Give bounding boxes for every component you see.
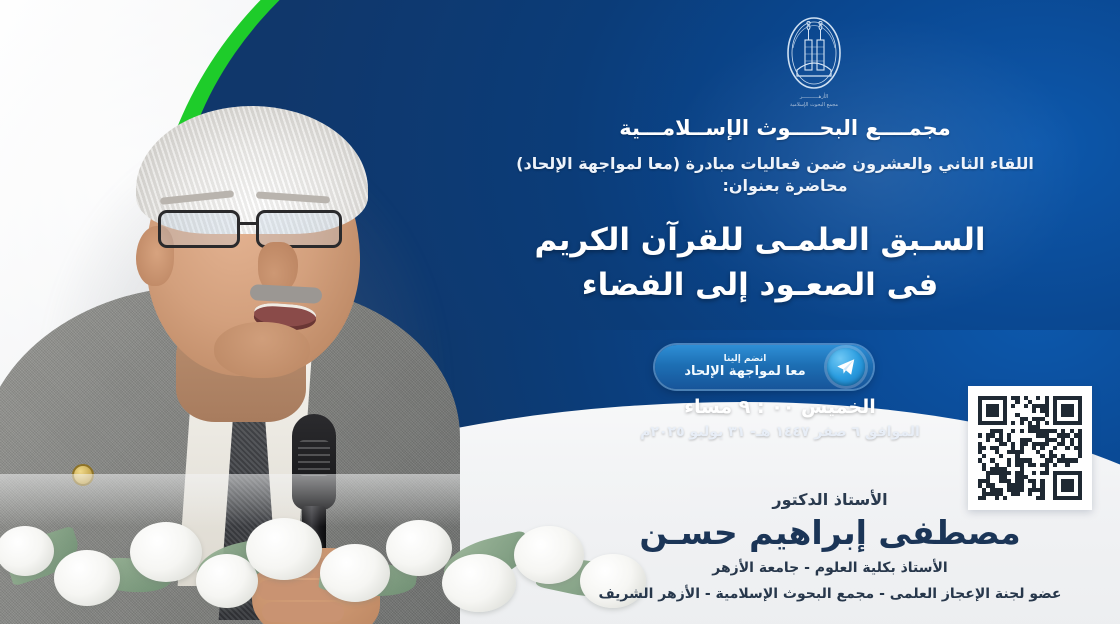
page-title: السـبق العلمـى للقرآن الكريم فى الصعـود … xyxy=(450,218,1070,308)
speaker-name: مصطفى إبراهيم حسـن xyxy=(580,513,1080,552)
event-time: الخميس ٠٠ : ٩ مساء xyxy=(600,396,960,418)
telegram-line-1: انضم إلينا xyxy=(663,354,827,364)
logo-caption-line2: مجمع البحوث الإسلامية xyxy=(775,102,853,110)
lecture-poster: الأزهـــــــــــر مجمع البحوث الإسلامية … xyxy=(0,0,1120,624)
event-date: الموافق ٦ صفر ١٤٤٧ هـ- ٣١ يوليو ٢٠٢٥م xyxy=(580,424,980,440)
logo-caption-line1: الأزهـــــــــــر xyxy=(775,94,853,102)
title-line-1: السـبق العلمـى للقرآن الكريم xyxy=(450,218,1070,263)
telegram-badge-text: انضم إلينا معا لمواجهة الإلحاد xyxy=(663,354,827,379)
al-azhar-emblem-icon: الأزهـــــــــــر مجمع البحوث الإسلامية xyxy=(775,14,853,114)
lecture-label: محاضرة بعنوان: xyxy=(560,176,1010,195)
qr-code-grid xyxy=(978,396,1082,500)
organization-title: مجمــــع البحــــوث الإســلامـــية xyxy=(560,116,1010,140)
title-line-2: فى الصعـود إلى الفضاء xyxy=(450,263,1070,308)
speaker-affiliation-1: الأستاذ بكلية العلوم - جامعة الأزهر xyxy=(600,560,1060,576)
event-subtitle: اللقاء الثاني والعشرون ضمن فعاليات مبادر… xyxy=(470,152,1080,175)
portrait-eyeglasses xyxy=(154,206,366,252)
logo-caption: الأزهـــــــــــر مجمع البحوث الإسلامية xyxy=(775,94,853,109)
eyeglass-lens-left xyxy=(158,210,240,248)
telegram-paper-plane-icon xyxy=(827,348,865,386)
speaker-affiliation-2: عضو لجنة الإعجاز العلمى - مجمع البحوث ال… xyxy=(560,586,1100,602)
portrait-chin xyxy=(214,322,310,378)
speaker-role: الأستاذ الدكتور xyxy=(620,490,1040,509)
telegram-line-2: معا لمواجهة الإلحاد xyxy=(663,365,827,380)
telegram-join-badge[interactable]: انضم إلينا معا لمواجهة الإلحاد xyxy=(655,345,873,389)
